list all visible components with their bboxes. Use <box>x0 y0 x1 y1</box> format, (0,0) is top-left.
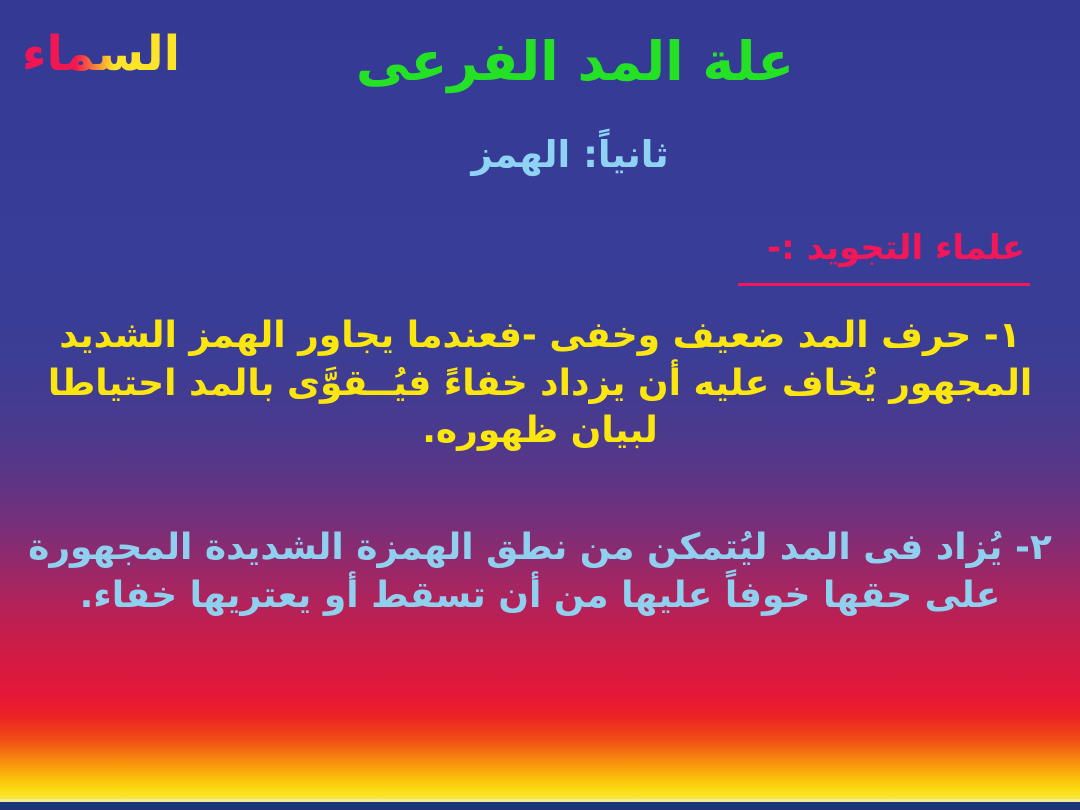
section-heading: علماء التجويد :- <box>767 228 1025 268</box>
page-title: علة المد الفرعى <box>0 30 1080 94</box>
body-paragraph-two: ٢- يُزاد فى المد ليُتمكن من نطق الهمزة ا… <box>0 524 1080 619</box>
section-heading-underline <box>738 283 1030 286</box>
slide-canvas: السماء علة المد الفرعى ثانياً: الهمز علم… <box>0 0 1080 810</box>
slide-subtitle: ثانياً: الهمز <box>0 133 1080 177</box>
footer-bar <box>0 802 1080 810</box>
body-paragraph-one: ١- حرف المد ضعيف وخفى -فعندما يجاور الهم… <box>0 312 1080 455</box>
